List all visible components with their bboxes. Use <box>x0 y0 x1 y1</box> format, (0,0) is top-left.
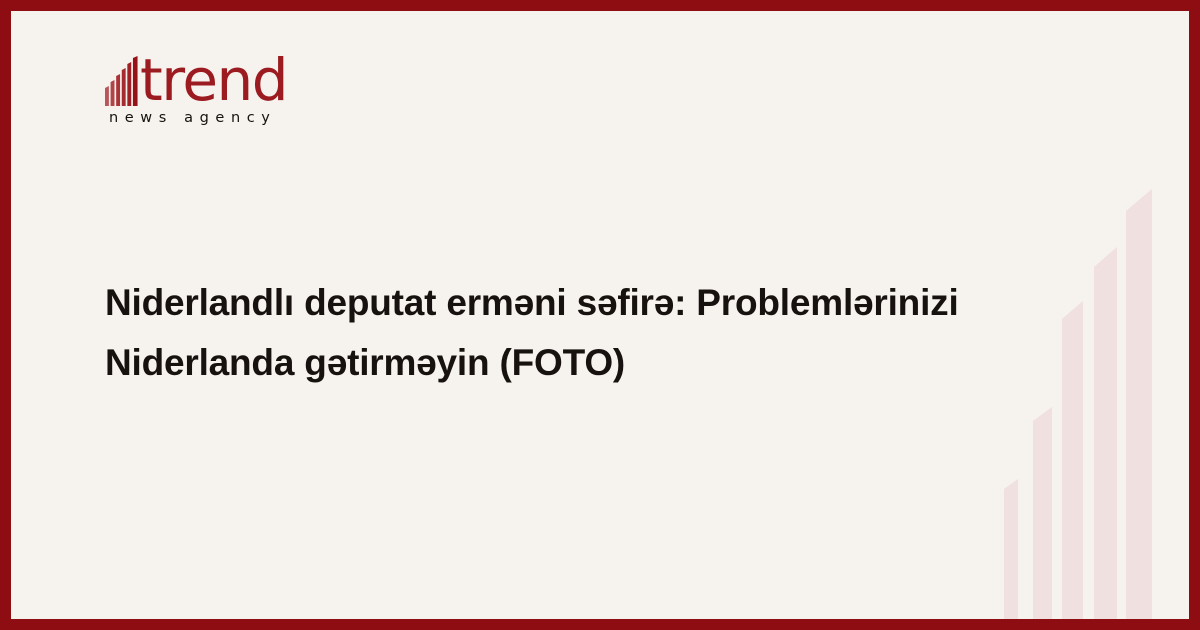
trend-bars-mark-icon <box>105 56 139 106</box>
headline-line-2: Niderlanda gətirməyin (FOTO) <box>105 342 625 383</box>
card-content-area: trend news agency Niderlandlı deputat er… <box>11 11 1189 619</box>
logo-tagline: news agency <box>109 110 405 126</box>
logo-wordmark: trend <box>140 56 287 106</box>
headline-line-1: Niderlandlı deputat erməni səfirə: Probl… <box>105 282 959 323</box>
logo-wordmark-row: trend <box>105 48 405 106</box>
article-headline: Niderlandlı deputat erməni səfirə: Probl… <box>105 273 1005 393</box>
trend-bars-watermark-icon <box>1004 189 1164 619</box>
brand-logo[interactable]: trend news agency <box>105 48 405 126</box>
share-card: trend news agency Niderlandlı deputat er… <box>0 0 1200 630</box>
